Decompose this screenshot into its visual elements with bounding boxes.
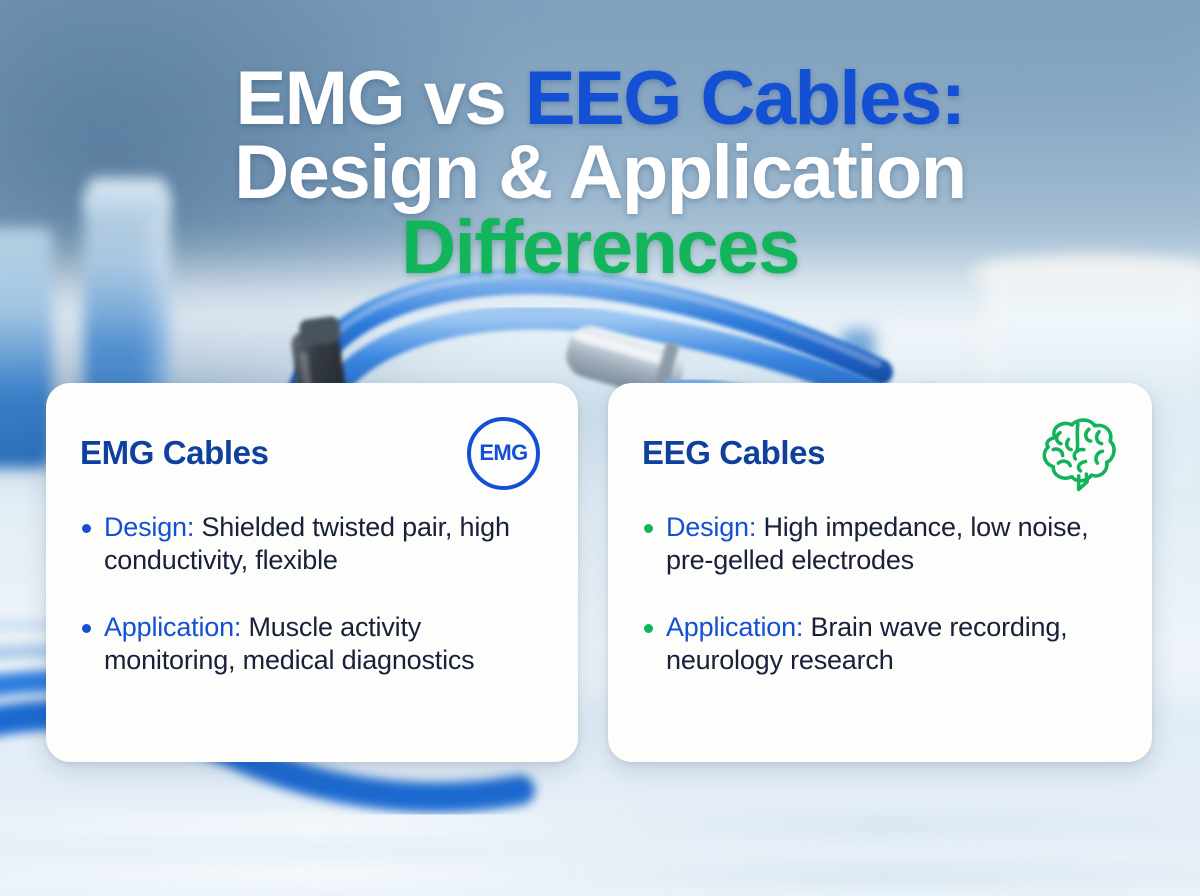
eeg-cables-card: EEG Cables	[608, 383, 1152, 762]
eeg-bullet-design-label: Design:	[666, 512, 756, 542]
emg-cables-card: EMG Cables EMG Design: Shielded twisted …	[46, 383, 578, 762]
title-line-3: Differences	[0, 211, 1200, 285]
emg-bullet-design: Design: Shielded twisted pair, high cond…	[80, 511, 548, 577]
emg-card-header: EMG Cables EMG	[80, 413, 548, 493]
eeg-card-title: EEG Cables	[642, 434, 825, 472]
emg-bullet-application-label: Application:	[104, 612, 241, 642]
eeg-bullet-design: Design: High impedance, low noise, pre-g…	[642, 511, 1122, 577]
emg-circle-badge-icon: EMG	[467, 417, 540, 490]
page-title: EMG vs EEG Cables: Design & Application …	[0, 62, 1200, 285]
eeg-bullet-application: Application: Brain wave recording, neuro…	[642, 611, 1122, 677]
emg-bullet-application: Application: Muscle activity monitoring,…	[80, 611, 548, 677]
title-line-1-white: EMG vs	[235, 56, 524, 141]
title-line-1-blue: EEG Cables:	[525, 56, 965, 141]
eeg-bullet-application-label: Application:	[666, 612, 803, 642]
title-line-1: EMG vs EEG Cables:	[0, 62, 1200, 136]
emg-badge-label: EMG	[479, 440, 527, 466]
emg-bullet-list: Design: Shielded twisted pair, high cond…	[80, 511, 548, 677]
emg-bullet-design-label: Design:	[104, 512, 194, 542]
eeg-bullet-list: Design: High impedance, low noise, pre-g…	[642, 511, 1122, 677]
brain-icon	[1034, 414, 1120, 492]
infographic-canvas: EMG vs EEG Cables: Design & Application …	[0, 0, 1200, 896]
eeg-card-header: EEG Cables	[642, 413, 1122, 493]
emg-card-title: EMG Cables	[80, 434, 269, 472]
title-line-2: Design & Application	[0, 136, 1200, 210]
